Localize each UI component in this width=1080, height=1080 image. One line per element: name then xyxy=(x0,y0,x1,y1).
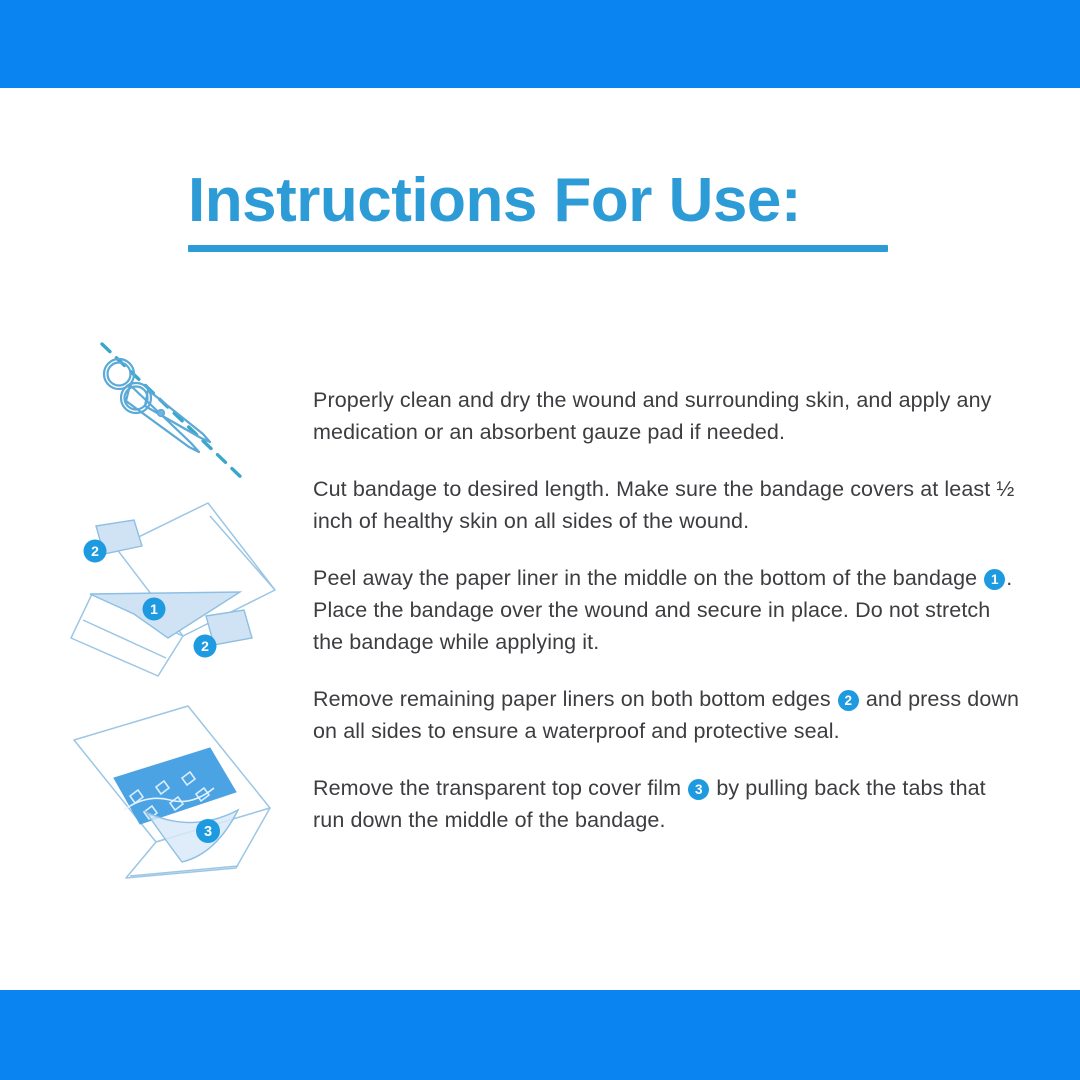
svg-text:2: 2 xyxy=(91,543,99,559)
step-clean-wound: Properly clean and dry the wound and sur… xyxy=(313,384,1023,448)
step-remove-liners: Remove remaining paper liners on both bo… xyxy=(313,683,1023,747)
top-brand-bar xyxy=(0,0,1080,88)
instructions-content: 2 1 2 xyxy=(0,330,1080,890)
cut-line xyxy=(102,344,246,482)
svg-text:1: 1 xyxy=(150,601,158,617)
illustration-column: 2 1 2 xyxy=(60,330,310,890)
step-cut-bandage: Cut bandage to desired length. Make sure… xyxy=(313,473,1023,537)
figure-peel-liner: 2 1 2 xyxy=(60,498,310,698)
bandage-film-illustration: 3 xyxy=(60,700,310,890)
page-title-block: Instructions For Use: xyxy=(188,168,908,252)
scissors-icon xyxy=(60,330,310,500)
svg-text:2: 2 xyxy=(201,638,209,654)
step-marker-badge-3: 3 xyxy=(688,779,709,800)
title-underline xyxy=(188,245,888,252)
bandage-peel-illustration: 2 1 2 xyxy=(60,498,310,698)
bottom-brand-bar xyxy=(0,990,1080,1080)
step-peel-liner: Peel away the paper liner in the middle … xyxy=(313,562,1023,658)
step-marker-badge-2: 2 xyxy=(838,690,859,711)
scissors-body xyxy=(104,359,210,452)
step-marker-badge-1: 1 xyxy=(984,569,1005,590)
fraction-one-half: ½ xyxy=(996,477,1014,501)
svg-text:3: 3 xyxy=(204,824,212,840)
figure-markers: 3 xyxy=(196,819,220,843)
figure-scissors xyxy=(60,330,310,500)
step-remove-film: Remove the transparent top cover film 3 … xyxy=(313,772,1023,836)
steps-list: Properly clean and dry the wound and sur… xyxy=(313,362,1023,836)
instructions-page: Instructions For Use: xyxy=(0,0,1080,1080)
figure-cover-film: 3 xyxy=(60,700,310,890)
page-title: Instructions For Use: xyxy=(188,168,908,233)
